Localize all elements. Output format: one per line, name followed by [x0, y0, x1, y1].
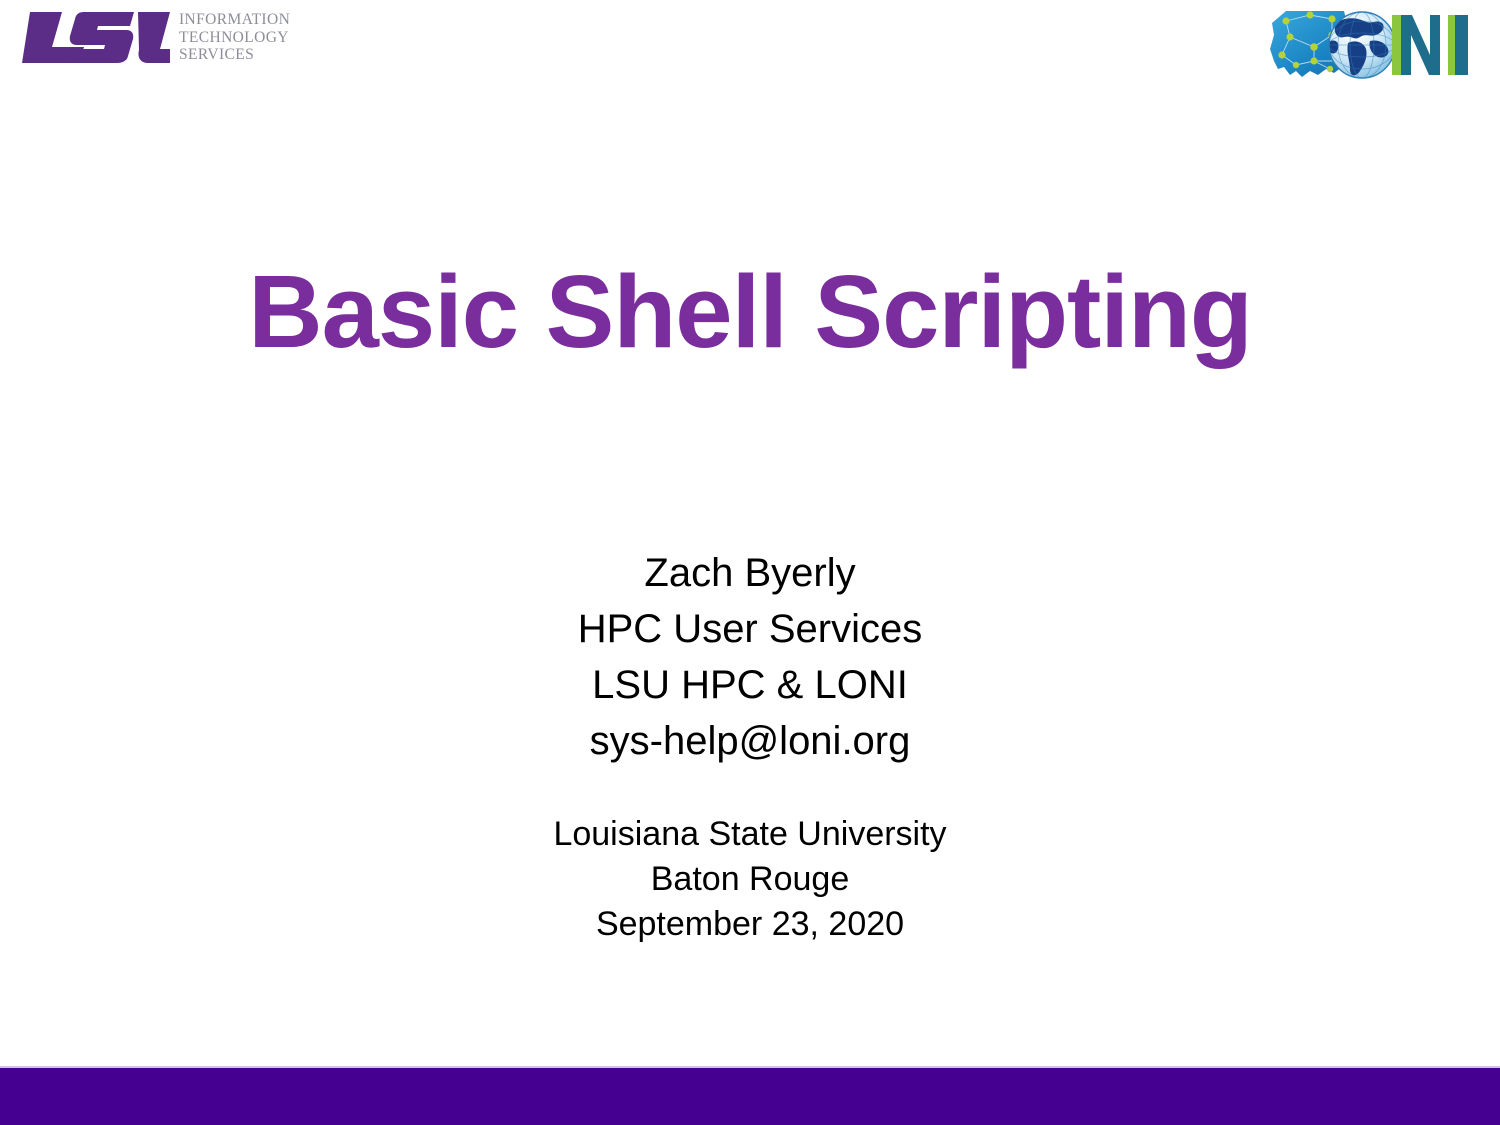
author-name: Zach Byerly [0, 545, 1500, 601]
lsu-its-line-3: SERVICES [179, 46, 290, 64]
presentation-slide: INFORMATION TECHNOLOGY SERVICES [0, 0, 1500, 1125]
lsu-its-line-2: TECHNOLOGY [179, 29, 290, 47]
lsu-its-logo: INFORMATION TECHNOLOGY SERVICES [22, 8, 322, 70]
author-block: Zach Byerly HPC User Services LSU HPC & … [0, 545, 1500, 769]
venue-city: Baton Rouge [0, 857, 1500, 902]
venue-university: Louisiana State University [0, 812, 1500, 857]
loni-logo [1252, 5, 1474, 87]
venue-date: September 23, 2020 [0, 902, 1500, 947]
author-email: sys-help@loni.org [0, 713, 1500, 769]
author-role: HPC User Services [0, 601, 1500, 657]
footer-bar [0, 1068, 1500, 1125]
lsu-wordmark-icon [22, 8, 170, 66]
author-organization: LSU HPC & LONI [0, 657, 1500, 713]
venue-block: Louisiana State University Baton Rouge S… [0, 812, 1500, 947]
lsu-its-subtitle: INFORMATION TECHNOLOGY SERVICES [179, 11, 290, 64]
loni-letter-n [1392, 15, 1440, 75]
slide-title: Basic Shell Scripting [0, 256, 1500, 368]
lsu-its-line-1: INFORMATION [179, 11, 290, 29]
loni-letter-i [1448, 15, 1468, 75]
